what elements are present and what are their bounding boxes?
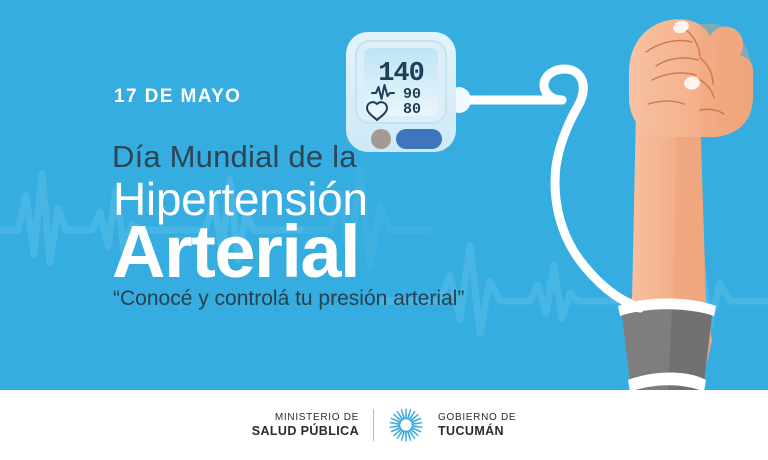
footer-bar: MINISTERIO DE SALUD PÚBLICA GOBIERNO DE … [0, 390, 768, 460]
ministry-line-1: MINISTERIO DE [252, 412, 359, 424]
government-brand: GOBIERNO DE TUCUMÁN [438, 412, 516, 439]
tucuman-sunburst-logo [388, 407, 424, 443]
arm-cuff [618, 299, 716, 393]
footer-divider [373, 409, 374, 441]
poster-canvas: 140 90 80 17 DE MAYO Día Mundial de la H… [0, 0, 768, 460]
kicker-date: 17 DE MAYO [114, 86, 241, 108]
headline-block: 17 DE MAYO Día Mundial de la Hipertensió… [0, 0, 500, 390]
fist-hand [629, 19, 753, 137]
government-line-2: TUCUMÁN [438, 424, 516, 439]
ministry-brand: MINISTERIO DE SALUD PÚBLICA [252, 412, 359, 439]
footer-branding: MINISTERIO DE SALUD PÚBLICA GOBIERNO DE … [252, 407, 517, 443]
government-line-1: GOBIERNO DE [438, 412, 516, 424]
headline-line-3: Arterial [112, 209, 359, 294]
ministry-line-2: SALUD PÚBLICA [252, 424, 359, 439]
tagline: “Conocé y controlá tu presión arterial” [113, 287, 464, 311]
headline-line-1: Día Mundial de la [112, 139, 357, 175]
